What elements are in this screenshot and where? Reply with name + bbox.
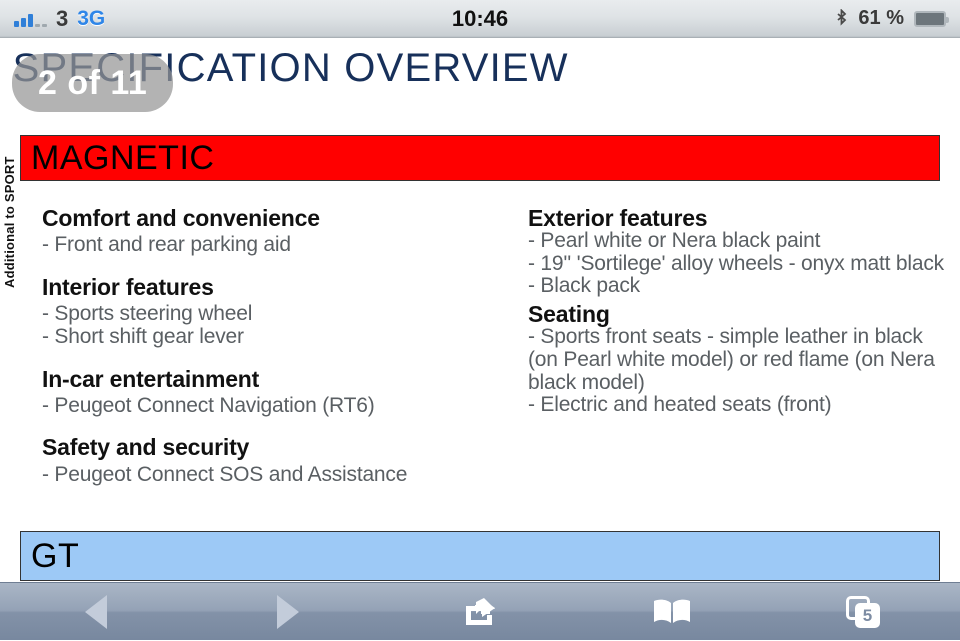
share-button[interactable] <box>384 583 576 641</box>
spec-section: Exterior features - Pearl white or Nera … <box>528 206 948 298</box>
tabs-button[interactable]: 5 <box>768 583 960 641</box>
trim-banner-gt: GT <box>20 531 940 581</box>
back-arrow-icon <box>85 595 107 629</box>
spec-item: - Black pack <box>528 275 948 298</box>
bluetooth-icon <box>835 9 848 29</box>
carrier-label: 3 <box>56 8 68 30</box>
status-bar-left: 3 3G <box>0 8 105 30</box>
spec-section: In-car entertainment - Peugeot Connect N… <box>42 367 502 418</box>
spec-section: Interior features - Sports steering whee… <box>42 275 502 349</box>
signal-bars-icon <box>14 11 47 27</box>
spec-section: Safety and security - Peugeot Connect SO… <box>42 435 502 486</box>
spec-section: Seating - Sports front seats - simple le… <box>528 302 948 417</box>
spec-item: - Sports steering wheel <box>42 302 502 326</box>
spec-section-heading: Safety and security <box>42 435 502 459</box>
spec-item: - 19'' 'Sortilege' alloy wheels - onyx m… <box>528 253 948 276</box>
spec-item: - Peugeot Connect Navigation (RT6) <box>42 394 502 418</box>
tabs-icon: 5 <box>846 596 882 628</box>
spec-section-heading: Interior features <box>42 275 502 299</box>
spec-column-left: Comfort and convenience - Front and rear… <box>42 206 502 504</box>
spec-item: - Electric and heated seats (front) <box>528 394 948 417</box>
clock-label: 10:46 <box>0 0 960 38</box>
bookmarks-button[interactable] <box>576 583 768 641</box>
browser-toolbar: 5 <box>0 582 960 640</box>
page-number-badge: 2 of 11 <box>12 54 173 112</box>
trim-banner-magnetic-label: MAGNETIC <box>21 141 214 175</box>
bookmarks-book-icon <box>652 597 692 627</box>
spec-item: - Short shift gear lever <box>42 325 502 349</box>
spec-item: - Sports front seats - simple leather in… <box>528 326 948 394</box>
share-icon <box>462 596 498 628</box>
back-button[interactable] <box>0 583 192 641</box>
trim-banner-gt-label: GT <box>21 539 79 573</box>
spec-column-right: Exterior features - Pearl white or Nera … <box>528 206 948 421</box>
document-page[interactable]: . SPECIFICATION OVERVIEW 2 of 11 MAGNETI… <box>0 38 960 582</box>
spec-item: - Front and rear parking aid <box>42 233 502 257</box>
forward-arrow-icon <box>277 595 299 629</box>
spec-section: Comfort and convenience - Front and rear… <box>42 206 502 257</box>
battery-icon <box>914 11 946 27</box>
spec-section-heading: Comfort and convenience <box>42 206 502 230</box>
tabs-count-label: 5 <box>855 603 880 628</box>
battery-percent-label: 61 % <box>858 7 904 30</box>
side-label-additional-to-sport: Additional to SPORT <box>2 156 17 288</box>
network-type-label: 3G <box>77 8 105 29</box>
status-bar-right: 61 % <box>835 7 960 30</box>
spec-section-heading: Exterior features <box>528 206 948 230</box>
spec-section-heading: In-car entertainment <box>42 367 502 391</box>
trim-banner-magnetic: MAGNETIC <box>20 135 940 181</box>
forward-button[interactable] <box>192 583 384 641</box>
spec-item: - Peugeot Connect SOS and Assistance <box>42 463 502 487</box>
spec-section-heading: Seating <box>528 302 948 326</box>
spec-item: - Pearl white or Nera black paint <box>528 230 948 253</box>
status-bar: 3 3G 10:46 61 % <box>0 0 960 38</box>
